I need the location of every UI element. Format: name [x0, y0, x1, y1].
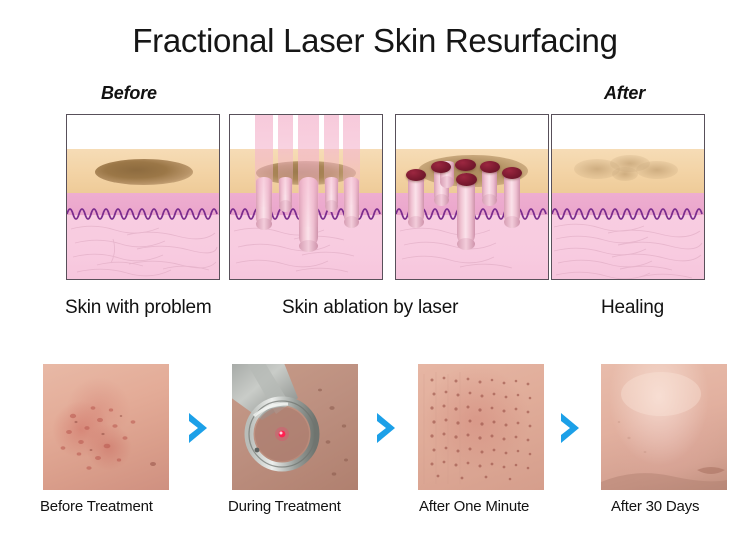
label-after: After — [604, 83, 645, 104]
air-layer — [552, 115, 704, 149]
air-layer — [396, 115, 548, 149]
epidermis-layer — [396, 149, 548, 193]
diagram-caption-skin-ablation-by-laser: Skin ablation by laser — [282, 297, 458, 319]
before-treatment-photo — [43, 364, 169, 490]
dermis-layer — [67, 215, 219, 279]
epidermis-layer — [230, 149, 382, 193]
epidermis-layer — [552, 149, 704, 193]
photo-caption-after-30-days: After 30 Days — [611, 498, 699, 515]
dermis-layer — [552, 215, 704, 279]
photo-caption-during-treatment: During Treatment — [228, 498, 341, 515]
treatment-photo-row — [0, 364, 750, 492]
arrow-right-icon — [186, 411, 212, 445]
arrow-right-icon — [374, 411, 400, 445]
skin-cross-section-panel-1 — [66, 114, 220, 280]
upper-dermis-layer — [67, 193, 219, 217]
upper-dermis-layer — [552, 193, 704, 217]
label-before: Before — [101, 83, 157, 104]
after-30-days-photo — [601, 364, 727, 490]
skin-cross-section-panel-2 — [229, 114, 383, 280]
arrow-right-icon — [558, 411, 584, 445]
air-layer — [67, 115, 219, 149]
after-one-minute-photo — [418, 364, 544, 490]
skin-cross-section-panel-4 — [551, 114, 705, 280]
skin-diagram-row — [0, 114, 750, 284]
epidermis-layer — [67, 149, 219, 193]
photo-caption-after-one-minute: After One Minute — [419, 498, 529, 515]
dermis-layer — [230, 215, 382, 279]
smooth-skin-contour — [601, 364, 727, 490]
acne-marks — [43, 364, 169, 490]
diagram-caption-healing: Healing — [601, 297, 664, 319]
upper-dermis-layer — [230, 193, 382, 217]
diagram-caption-skin-with-problem: Skin with problem — [65, 297, 212, 319]
skin-cross-section-panel-3 — [395, 114, 549, 280]
laser-microdot-grid — [418, 364, 544, 490]
during-treatment-photo — [232, 364, 358, 490]
page-title: Fractional Laser Skin Resurfacing — [0, 22, 750, 60]
dermis-layer — [396, 215, 548, 279]
air-layer — [230, 115, 382, 149]
upper-dermis-layer — [396, 193, 548, 217]
photo-caption-before-treatment: Before Treatment — [40, 498, 153, 515]
laser-handpiece-icon — [232, 364, 358, 490]
